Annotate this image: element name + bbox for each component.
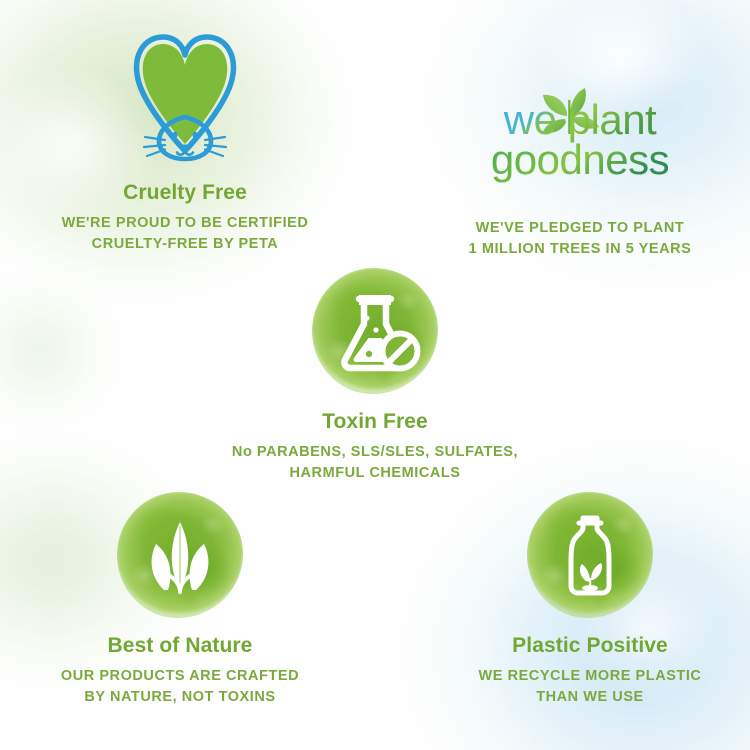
badge-best-of-nature: Best of Nature OUR PRODUCTS ARE CRAFTED … (30, 492, 330, 707)
badge-description-line: No PARABENS, SLS/SLES, SULFATES, (215, 442, 535, 463)
badge-description: WE'RE PROUD TO BE CERTIFIED CRUELTY-FREE… (35, 213, 335, 254)
badge-title: Best of Nature (30, 634, 330, 657)
badge-description-line: WE RECYCLE MORE PLASTIC (440, 666, 740, 687)
badge-title: Plastic Positive (440, 634, 740, 657)
badge-toxin-free: Toxin Free No PARABENS, SLS/SLES, SULFAT… (215, 268, 535, 483)
badge-description-line: THAN WE USE (440, 687, 740, 708)
badge-cruelty-free: Cruelty Free WE'RE PROUD TO BE CERTIFIED… (35, 25, 335, 254)
badge-title: Cruelty Free (35, 181, 335, 204)
badge-description-line: HARMFUL CHEMICALS (215, 463, 535, 484)
badge-we-plant-goodness: we plant goodness WE'VE PLEDGED TO PLANT… (430, 78, 730, 259)
badge-description: WE'VE PLEDGED TO PLANT 1 MILLION TREES I… (430, 218, 730, 259)
badge-description-line: WE'VE PLEDGED TO PLANT (430, 218, 730, 239)
logo-line-2: goodness (491, 136, 669, 183)
infographic-canvas: Cruelty Free WE'RE PROUD TO BE CERTIFIED… (0, 0, 750, 750)
bottle-sprout-icon (527, 492, 653, 618)
badge-plastic-positive: Plastic Positive WE RECYCLE MORE PLASTIC… (440, 492, 740, 707)
badge-title: Toxin Free (215, 410, 535, 433)
badge-description: WE RECYCLE MORE PLASTIC THAN WE USE (440, 666, 740, 707)
badge-description-line: CRUELTY-FREE BY PETA (35, 234, 335, 255)
badge-description-line: BY NATURE, NOT TOXINS (30, 687, 330, 708)
badge-description: No PARABENS, SLS/SLES, SULFATES, HARMFUL… (215, 442, 535, 483)
flask-no-entry-icon (312, 268, 438, 394)
badge-description: OUR PRODUCTS ARE CRAFTED BY NATURE, NOT … (30, 666, 330, 707)
watercolor-wash-middle-left (0, 250, 140, 450)
badge-description-line: 1 MILLION TREES IN 5 YEARS (430, 239, 730, 260)
three-leaves-icon (117, 492, 243, 618)
badge-description-line: OUR PRODUCTS ARE CRAFTED (30, 666, 330, 687)
badge-description-line: WE'RE PROUD TO BE CERTIFIED (35, 213, 335, 234)
we-plant-goodness-logo: we plant goodness (430, 82, 730, 192)
peta-bunny-heart-icon (35, 25, 335, 165)
